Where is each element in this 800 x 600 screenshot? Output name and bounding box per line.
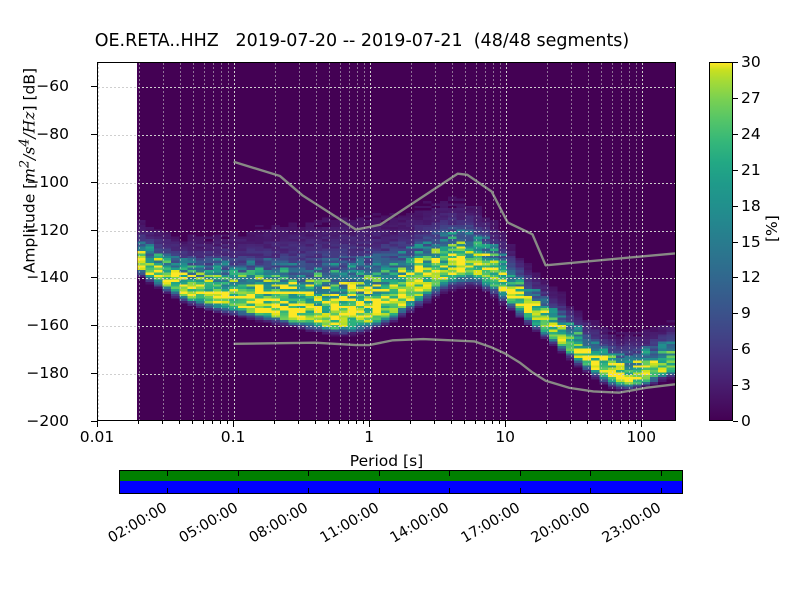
gridline-vertical [452,63,453,420]
gridline-vertical [357,63,358,420]
x-tick-mark [369,421,370,427]
y-tick-label: −100 [26,173,69,191]
coverage-tick-mark [238,471,239,476]
x-tick-mark [162,421,163,424]
coverage-time-label: 05:00:00 [163,500,240,554]
gridline-vertical [98,63,99,420]
colorbar[interactable] [709,62,733,421]
colorbar-tick-label: 3 [741,376,751,394]
x-tick-mark [348,421,349,424]
gridline-horizontal [98,135,675,136]
gridline-vertical [180,63,181,420]
coverage-time-label: 23:00:00 [586,500,663,554]
colorbar-tick-label: 0 [741,412,751,430]
y-tick-label: −160 [26,316,69,334]
gridline-horizontal [98,183,675,184]
x-tick-label: 10 [495,428,515,446]
x-tick-mark [339,421,340,424]
x-tick-mark [505,421,506,427]
colorbar-tick-label: 6 [741,340,751,358]
colorbar-tick-mark [733,206,738,207]
coverage-tick-mark [167,471,168,476]
x-tick-mark [179,421,180,424]
coverage-tick-mark [590,488,591,493]
coverage-time-label: 17:00:00 [445,500,522,554]
colorbar-label: [%] [763,215,781,242]
y-tick-label: −140 [26,268,69,286]
colorbar-tick-label: 24 [741,125,761,143]
data-coverage-bar[interactable] [119,470,683,494]
gridline-vertical [299,63,300,420]
x-tick-mark [451,421,452,424]
x-tick-mark [220,421,221,424]
x-tick-label: 0.1 [221,428,246,446]
gridline-vertical [476,63,477,420]
colorbar-tick-mark [733,98,738,99]
coverage-tick-mark [520,471,521,476]
gridline-horizontal [98,87,675,88]
y-tick-label: −180 [26,364,69,382]
x-tick-mark [635,421,636,424]
gridline-vertical [411,63,412,420]
gridline-vertical [193,63,194,420]
coverage-tick-mark [238,488,239,493]
x-tick-mark [600,421,601,424]
gridline-vertical [506,63,507,420]
gridline-vertical [221,63,222,420]
x-tick-mark [212,421,213,424]
gridline-vertical [621,63,622,420]
y-tick-label: −120 [26,221,69,239]
x-tick-mark [484,421,485,424]
gridline-vertical [349,63,350,420]
colorbar-tick-mark [733,277,738,278]
x-tick-mark [499,421,500,424]
coverage-tick-mark [661,488,662,493]
colorbar-tick-label: 18 [741,197,761,215]
ppsd-plot-area[interactable] [97,62,676,421]
gridline-vertical [485,63,486,420]
gridline-vertical [493,63,494,420]
coverage-upper-band [120,471,682,481]
coverage-tick-mark [167,488,168,493]
x-tick-label: 1 [364,428,374,446]
gridline-vertical [435,63,436,420]
x-tick-mark [192,421,193,424]
coverage-time-label: 11:00:00 [304,500,381,554]
gridline-vertical [163,63,164,420]
x-tick-mark [97,421,98,427]
coverage-tick-mark [308,471,309,476]
gridline-horizontal [98,374,675,375]
gridline-vertical [316,63,317,420]
x-axis-label: Period [s] [97,452,676,470]
coverage-time-label: 02:00:00 [93,500,170,554]
coverage-tick-mark [379,488,380,493]
coverage-tick-mark [661,471,662,476]
gridline-vertical [275,63,276,420]
gridline-vertical [234,63,235,420]
x-tick-mark [274,421,275,424]
coverage-tick-mark [308,488,309,493]
gridline-vertical [204,63,205,420]
x-tick-mark [138,421,139,424]
colorbar-tick-mark [733,242,738,243]
colorbar-tick-label: 27 [741,89,761,107]
gridline-vertical [340,63,341,420]
colorbar-tick-label: 21 [741,161,761,179]
gridline-vertical [329,63,330,420]
x-tick-mark [611,421,612,424]
x-tick-mark [620,421,621,424]
gridline-vertical [465,63,466,420]
coverage-tick-mark [449,471,450,476]
coverage-tick-mark [449,488,450,493]
colorbar-tick-mark [733,421,738,422]
coverage-lower-band [120,481,682,493]
coverage-tick-mark [379,471,380,476]
gridline-vertical [642,63,643,420]
x-tick-mark [546,421,547,424]
gridline-vertical [213,63,214,420]
colorbar-tick-label: 9 [741,304,751,322]
x-tick-mark [227,421,228,424]
x-tick-mark [570,421,571,424]
gridline-vertical [547,63,548,420]
x-tick-mark [492,421,493,424]
y-tick-mark [91,86,97,87]
coverage-tick-mark [590,471,591,476]
colorbar-tick-mark [733,385,738,386]
y-tick-mark [91,134,97,135]
x-tick-mark [356,421,357,424]
y-tick-label: −200 [26,412,69,430]
x-tick-mark [464,421,465,424]
colorbar-tick-label: 30 [741,53,761,71]
x-tick-mark [641,421,642,427]
x-tick-mark [434,421,435,424]
y-tick-mark [91,277,97,278]
y-tick-mark [91,230,97,231]
gridline-vertical [228,63,229,420]
gridline-vertical [612,63,613,420]
gridline-vertical [370,63,371,420]
coverage-time-label: 14:00:00 [375,500,452,554]
colorbar-tick-label: 15 [741,233,761,251]
gridline-vertical [500,63,501,420]
x-tick-mark [328,421,329,424]
gridline-vertical [139,63,140,420]
colorbar-tick-mark [733,170,738,171]
x-tick-mark [410,421,411,424]
y-tick-label: −60 [36,77,69,95]
ppsd-figure: OE.RETA..HHZ 2019-07-20 -- 2019-07-21 (4… [0,0,800,600]
x-tick-mark [315,421,316,424]
x-tick-mark [298,421,299,424]
gridline-vertical [629,63,630,420]
colorbar-tick-mark [733,349,738,350]
gridline-vertical [571,63,572,420]
y-tick-mark [91,325,97,326]
colorbar-tick-mark [733,62,738,63]
coverage-time-label: 08:00:00 [234,500,311,554]
y-tick-mark [91,182,97,183]
colorbar-tick-mark [733,313,738,314]
y-tick-label: −80 [36,125,69,143]
gridline-vertical [636,63,637,420]
gridline-vertical [364,63,365,420]
x-tick-mark [587,421,588,424]
x-tick-mark [628,421,629,424]
x-tick-mark [475,421,476,424]
colorbar-tick-mark [733,134,738,135]
x-tick-mark [203,421,204,424]
gridline-horizontal [98,326,675,327]
gridline-horizontal [98,231,675,232]
x-tick-label: 100 [626,428,656,446]
colorbar-tick-label: 12 [741,268,761,286]
y-tick-mark [91,373,97,374]
x-tick-label: 0.01 [80,428,115,446]
gridline-horizontal [98,278,675,279]
coverage-time-label: 20:00:00 [516,500,593,554]
x-tick-mark [363,421,364,424]
gridline-vertical [601,63,602,420]
x-tick-mark [233,421,234,427]
figure-title: OE.RETA..HHZ 2019-07-20 -- 2019-07-21 (4… [0,31,724,51]
gridline-vertical [588,63,589,420]
coverage-tick-mark [520,488,521,493]
